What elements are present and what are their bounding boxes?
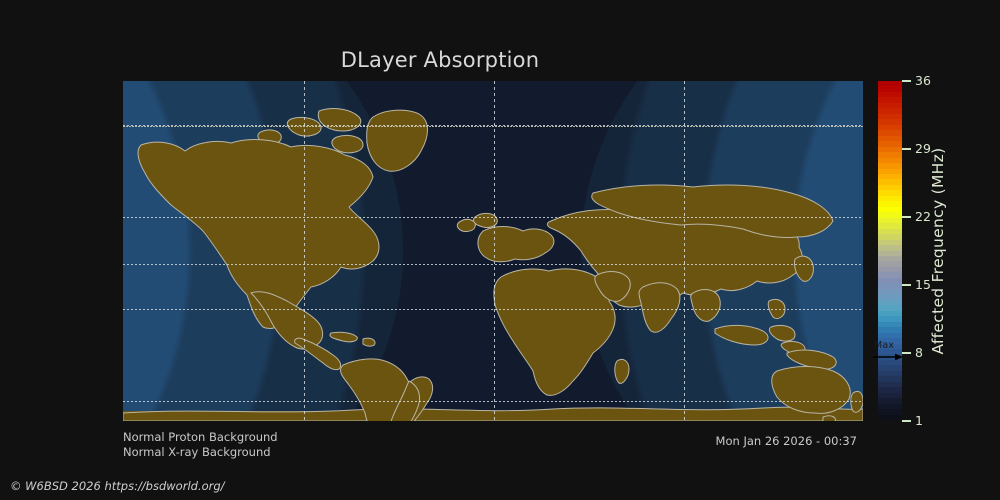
colorbar-band [878, 415, 902, 420]
colorbar-tick-dash [902, 80, 911, 82]
colorbar-tick-dash [902, 420, 911, 422]
world-map-panel[interactable] [123, 81, 863, 421]
colorbar-gradient [878, 81, 902, 421]
colorbar[interactable] [878, 81, 902, 421]
page-title: DLayer Absorption [0, 48, 880, 72]
colorbar-axis-label: Affected Frequency (MHz) [925, 81, 951, 421]
timestamp: Mon Jan 26 2026 - 00:37 [716, 434, 857, 448]
caption-proton-background: Normal Proton Background [123, 430, 278, 444]
colorbar-tick-dash [902, 352, 911, 354]
colorbar-tick: 1 [902, 414, 923, 428]
colorbar-tick-dash [902, 148, 911, 150]
colorbar-tick-value: 8 [915, 347, 923, 360]
absorption-heatmap [123, 81, 863, 421]
colorbar-tick: 8 [902, 346, 923, 360]
colorbar-tick-dash [902, 216, 911, 218]
chart-canvas: DLayer Absorption [0, 0, 1000, 500]
caption-xray-background: Normal X-ray Background [123, 445, 271, 459]
colorbar-axis-label-text: Affected Frequency (MHz) [929, 148, 947, 355]
colorbar-tick-dash [902, 284, 911, 286]
copyright-notice: © W6BSD 2026 https://bsdworld.org/ [10, 479, 225, 493]
colorbar-tick-value: 1 [915, 415, 923, 428]
